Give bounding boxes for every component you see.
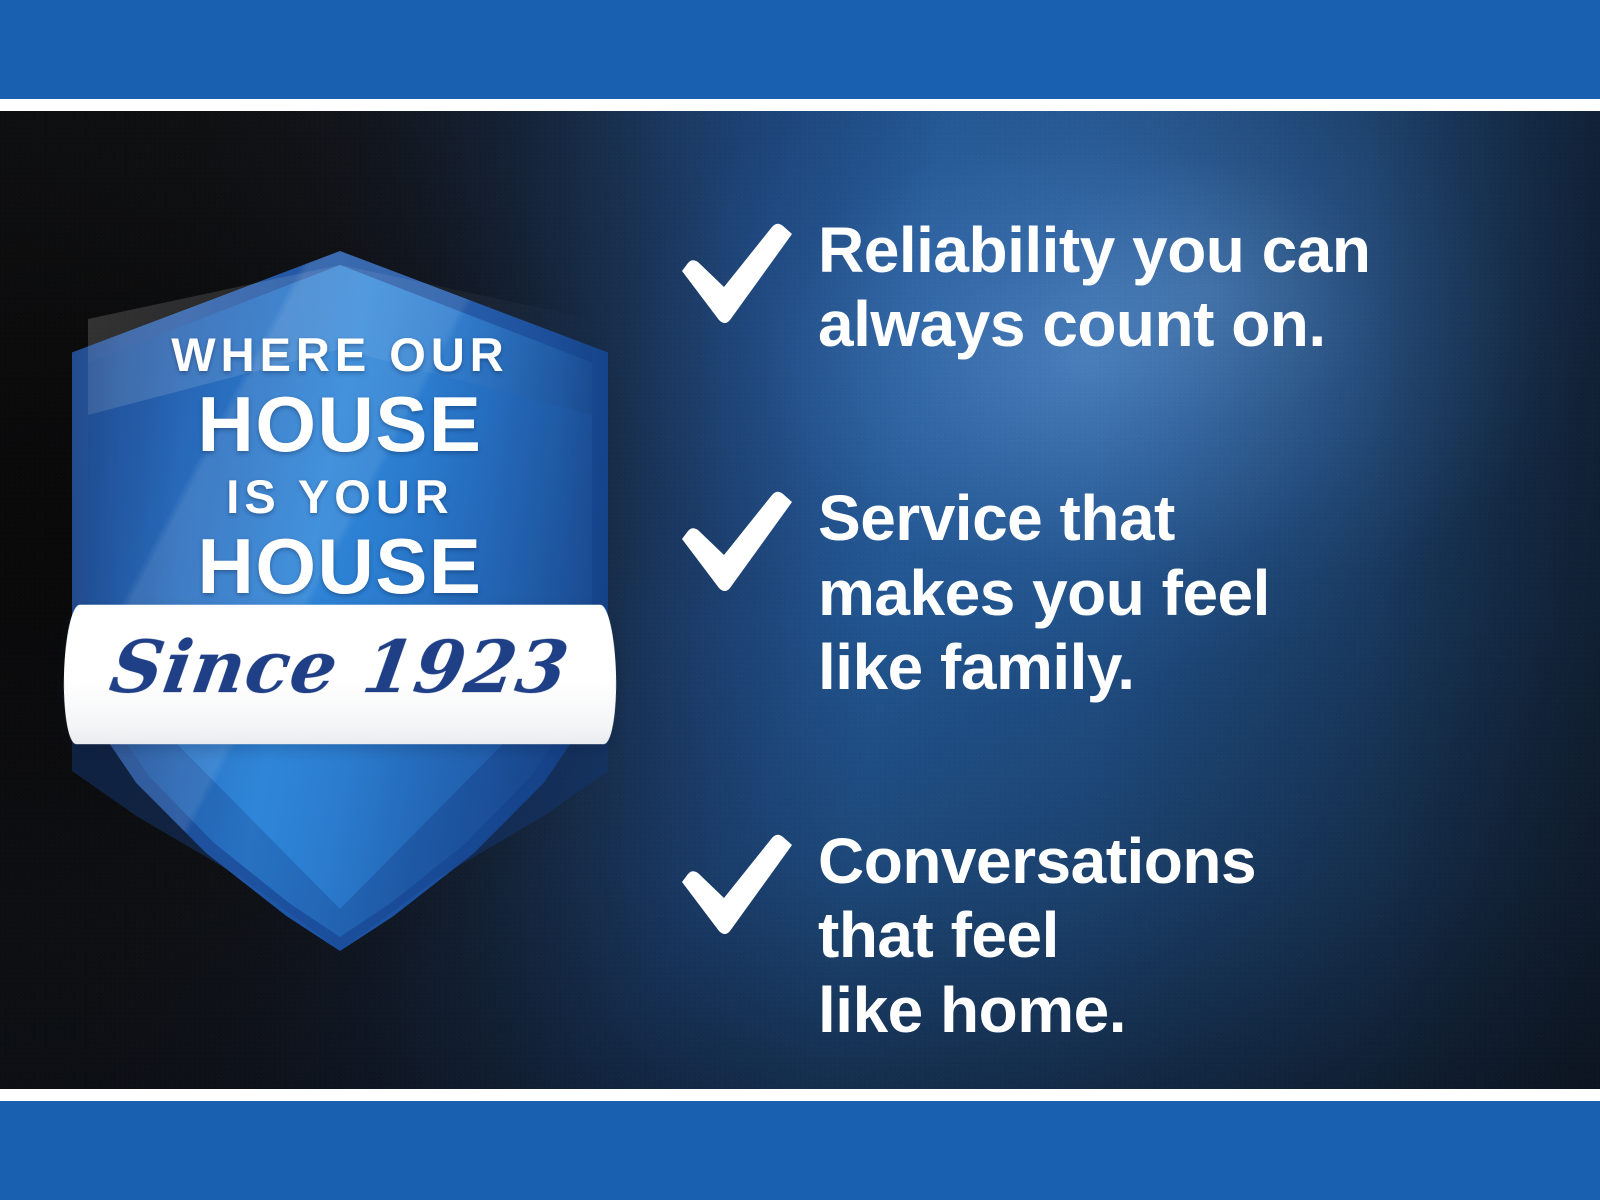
emblem-line-3: IS YOUR bbox=[72, 473, 608, 520]
poster-stage: WHERE OUR HOUSE IS YOUR HOUSE Since 1923… bbox=[0, 111, 1600, 1089]
promo-poster: WHERE OUR HOUSE IS YOUR HOUSE Since 1923… bbox=[0, 0, 1600, 1200]
benefits-checklist: Reliability you can always count on. Ser… bbox=[668, 211, 1498, 1047]
checklist-item-text: Conversations that feel like home. bbox=[818, 822, 1256, 1047]
top-brand-bar bbox=[0, 0, 1600, 99]
checklist-item-text: Reliability you can always count on. bbox=[818, 211, 1370, 361]
checkmark-icon bbox=[668, 485, 800, 595]
since-year-text: Since 1923 bbox=[57, 624, 622, 709]
checkmark-icon bbox=[668, 217, 800, 327]
emblem-tagline: WHERE OUR HOUSE IS YOUR HOUSE bbox=[72, 331, 608, 605]
checklist-item: Reliability you can always count on. bbox=[668, 211, 1498, 361]
checkmark-icon bbox=[668, 828, 800, 938]
since-ribbon: Since 1923 bbox=[64, 600, 616, 748]
checklist-item-text: Service that makes you feel like family. bbox=[818, 479, 1270, 704]
emblem-line-2: HOUSE bbox=[72, 385, 608, 463]
emblem-line-1: WHERE OUR bbox=[72, 331, 608, 378]
checklist-item: Service that makes you feel like family. bbox=[668, 479, 1498, 704]
checklist-item: Conversations that feel like home. bbox=[668, 822, 1498, 1047]
shield-emblem: WHERE OUR HOUSE IS YOUR HOUSE Since 1923 bbox=[72, 251, 608, 951]
bottom-brand-bar bbox=[0, 1101, 1600, 1200]
emblem-line-4: HOUSE bbox=[72, 527, 608, 605]
